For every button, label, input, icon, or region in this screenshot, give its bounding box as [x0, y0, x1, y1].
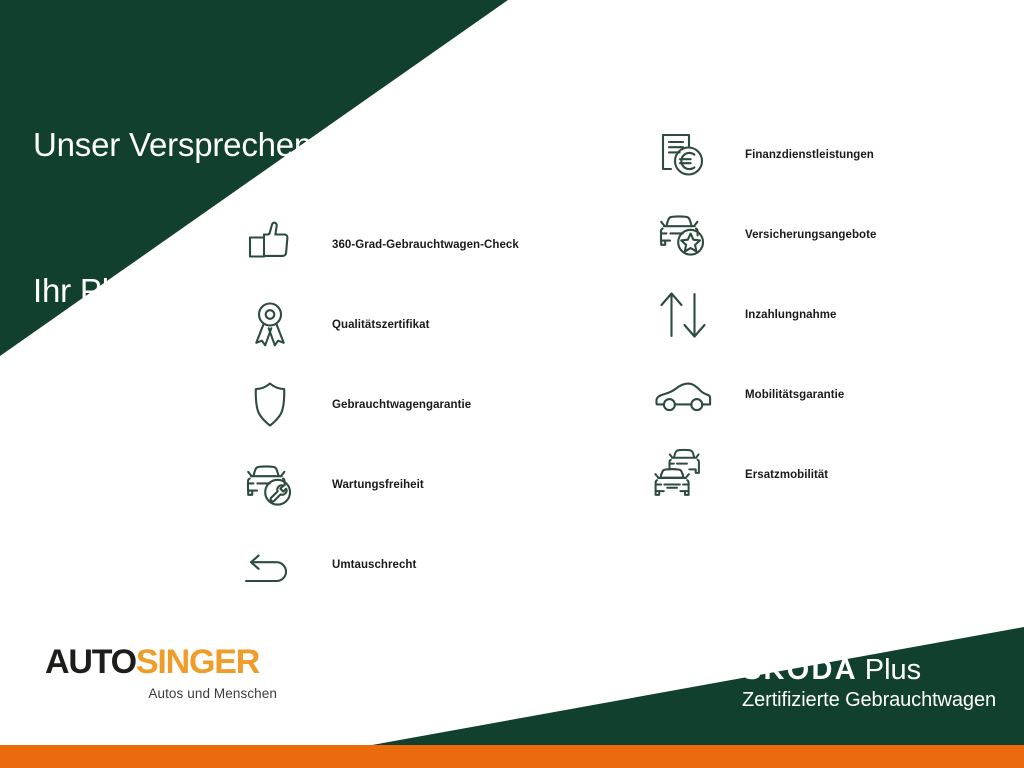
feature-label: Mobilitätsgarantie [721, 389, 844, 401]
headline-line-1: Unser Versprechen. [33, 121, 321, 170]
feature-label: Gebrauchtwagengarantie [308, 399, 471, 411]
dealer-logo: AUTOSINGER Autos und Menschen [45, 645, 277, 701]
award-rosette-icon [232, 289, 308, 361]
feature-item-replacement-mobility: Ersatzmobilität [645, 435, 876, 515]
feature-label: Versicherungsangebote [721, 229, 876, 241]
feature-item-mobility-guarantee: Mobilitätsgarantie [645, 355, 876, 435]
thumbs-up-icon [232, 209, 308, 281]
orange-footer-bar [0, 745, 1024, 768]
dealer-tagline: Autos und Menschen [45, 686, 277, 701]
shield-icon [232, 369, 308, 441]
feature-item-used-car-warranty: Gebrauchtwagengarantie [232, 365, 519, 445]
feature-label: Qualitätszertifikat [308, 319, 429, 331]
feature-item-exchange-right: Umtauschrecht [232, 525, 519, 605]
up-down-arrows-icon [645, 279, 721, 351]
car-side-icon [645, 359, 721, 431]
dealer-wordmark: AUTOSINGER [45, 645, 277, 679]
return-arrow-icon [232, 529, 308, 601]
brand-logo: ŠKODAPlus Zertifizierte Gebrauchtwagen [742, 655, 996, 712]
feature-item-quality-certificate: Qualitätszertifikat [232, 285, 519, 365]
feature-label: 360-Grad-Gebrauchtwagen-Check [308, 239, 519, 251]
feature-label: Ersatzmobilität [721, 469, 828, 481]
car-star-icon [645, 199, 721, 271]
brand-name-row: ŠKODAPlus [742, 655, 996, 685]
feature-item-360-check: 360-Grad-Gebrauchtwagen-Check [232, 205, 519, 285]
feature-item-insurance-offers: Versicherungsangebote [645, 195, 876, 275]
brand-subline: Zertifizierte Gebrauchtwagen [742, 689, 996, 712]
promise-infographic: Unser Versprechen. Ihr Plus. 360-Grad-Ge… [0, 0, 1024, 768]
car-wrench-icon [232, 449, 308, 521]
document-euro-icon [645, 119, 721, 191]
feature-label: Wartungsfreiheit [308, 479, 424, 491]
brand-name: ŠKODA [742, 654, 858, 686]
dealer-wordmark-part-1: AUTO [45, 643, 136, 681]
brand-suffix: Plus [865, 654, 921, 686]
feature-item-maintenance-free: Wartungsfreiheit [232, 445, 519, 525]
two-cars-icon [645, 439, 721, 511]
feature-item-financial-services: Finanzdienstleistungen [645, 115, 876, 195]
feature-list-right: Finanzdienstleistungen Versich [645, 115, 876, 515]
feature-label: Inzahlungnahme [721, 309, 836, 321]
feature-label: Finanzdienstleistungen [721, 149, 874, 161]
feature-item-trade-in: Inzahlungnahme [645, 275, 876, 355]
dealer-wordmark-part-2: SINGER [136, 643, 259, 681]
feature-label: Umtauschrecht [308, 559, 416, 571]
feature-list-left: 360-Grad-Gebrauchtwagen-Check Qualitätsz… [232, 205, 519, 605]
